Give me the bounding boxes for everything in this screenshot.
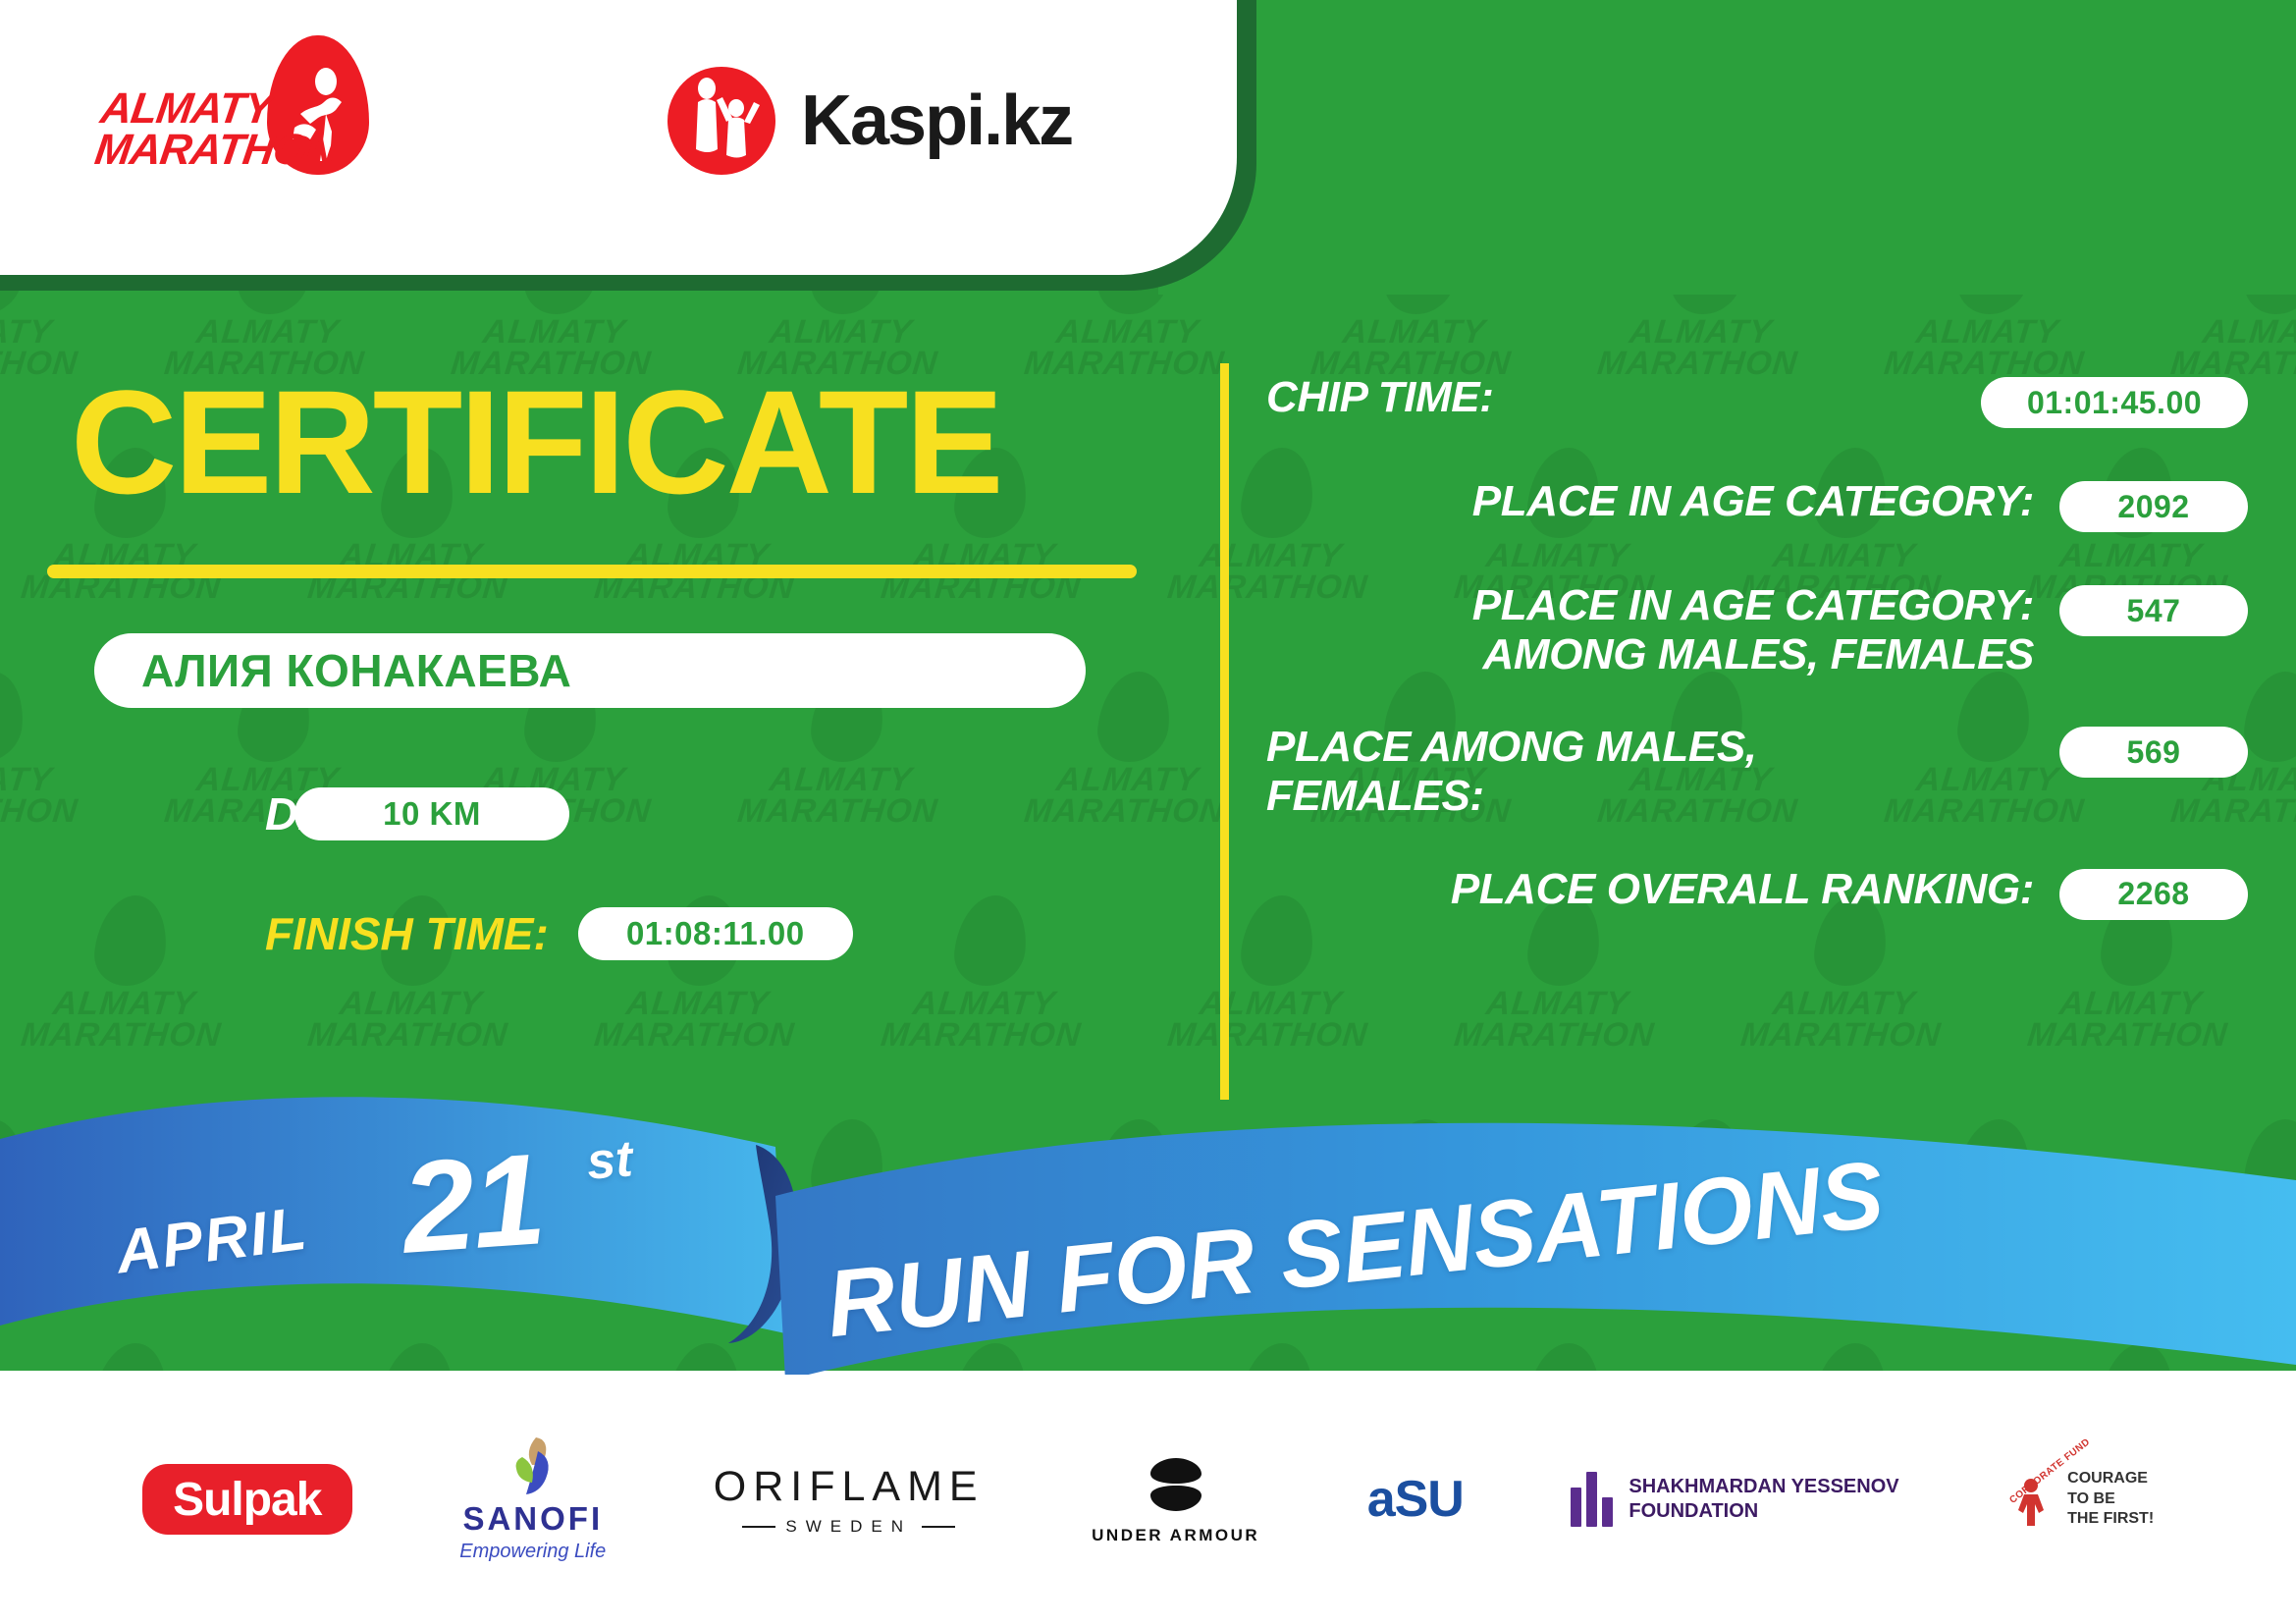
finish-time-row: FINISH TIME: 01:08:11.00 xyxy=(265,903,853,964)
sponsor-logo-oriflame: ORIFLAME SWEDEN xyxy=(714,1463,985,1537)
yessenov-wordmark: SHAKHMARDAN YESSENOV FOUNDATION xyxy=(1629,1475,1898,1524)
sanofi-wordmark: SANOFI xyxy=(459,1500,606,1538)
stat-row: PLACE IN AGE CATEGORY: AMONG MALES, FEMA… xyxy=(1266,581,2248,679)
sulpak-wordmark: Sulpak xyxy=(173,1473,321,1527)
distance-value: 10 KM xyxy=(294,787,569,840)
oriflame-wordmark: ORIFLAME xyxy=(714,1463,985,1511)
ribbon-day: 21 xyxy=(398,1124,548,1282)
sponsor-logo-sanofi: SANOFI Empowering Life xyxy=(459,1435,606,1563)
yessenov-bars-icon xyxy=(1571,1472,1613,1527)
kaspi-wordmark: Kaspi.kz xyxy=(801,81,1072,161)
finish-time-label: FINISH TIME: xyxy=(265,907,549,960)
oriflame-tagline: SWEDEN xyxy=(714,1517,985,1537)
under-armour-wordmark: UNDER ARMOUR xyxy=(1092,1526,1259,1545)
stat-value: 01:01:45.00 xyxy=(1981,377,2248,428)
certificate-canvas: ALMATY MARATHONALMATY MARATHONALMATY MAR… xyxy=(0,0,2296,1624)
watermark-tile: ALMATY MARATHON xyxy=(2285,448,2296,604)
stat-value: 569 xyxy=(2059,727,2248,778)
stat-row: PLACE OVERALL RANKING:2268 xyxy=(1266,865,2248,926)
stat-label: PLACE AMONG MALES, FEMALES: xyxy=(1266,723,2059,821)
finish-time-value: 01:08:11.00 xyxy=(578,907,853,960)
participant-name-field: АЛИЯ КОНАКАЕВА xyxy=(94,633,1086,708)
stat-label: PLACE IN AGE CATEGORY: xyxy=(1266,477,2059,526)
stat-label: CHIP TIME: xyxy=(1266,373,1981,422)
almaty-marathon-logo: ALMATY MARATHON xyxy=(98,41,393,179)
watermark-tile: ALMATY MARATHON xyxy=(2285,895,2296,1052)
vertical-divider xyxy=(1220,363,1229,1100)
title-underline xyxy=(47,565,1137,578)
under-armour-icon xyxy=(1129,1454,1223,1515)
distance-row: DISTANCE: 10 KM xyxy=(265,784,569,844)
stat-row: PLACE IN AGE CATEGORY:2092 xyxy=(1266,477,2248,538)
stat-row: PLACE AMONG MALES, FEMALES:569 xyxy=(1266,723,2248,821)
ribbon-day-suffix: st xyxy=(585,1129,634,1191)
stat-label: PLACE OVERALL RANKING: xyxy=(1266,865,2059,914)
courage-wordmark: COURAGE TO BE THE FIRST! xyxy=(2067,1469,2154,1530)
sponsor-logo-sulpak: Sulpak xyxy=(142,1464,352,1535)
participant-name-value: АЛИЯ КОНАКАЕВА xyxy=(141,644,571,697)
almaty-marathon-wordmark: ALMATY MARATHON xyxy=(92,88,345,171)
stat-value: 547 xyxy=(2059,585,2248,636)
stats-column: CHIP TIME:01:01:45.00PLACE IN AGE CATEGO… xyxy=(1266,373,2248,969)
courage-figure-icon: CORPORATE FUND xyxy=(2006,1470,2056,1529)
kaspi-figures-icon xyxy=(667,67,775,175)
sponsor-logo-asu: aSU xyxy=(1367,1470,1464,1529)
stat-value: 2268 xyxy=(2059,869,2248,920)
sanofi-tagline: Empowering Life xyxy=(459,1541,606,1563)
asu-wordmark: aSU xyxy=(1367,1470,1464,1529)
header-logo-row: ALMATY MARATHON Kaspi.kz xyxy=(0,0,1237,275)
event-ribbon: APRIL 21 st RUN FOR SENSATIONS xyxy=(0,1090,2296,1375)
stat-label: PLACE IN AGE CATEGORY: AMONG MALES, FEMA… xyxy=(1266,581,2059,679)
stat-value: 2092 xyxy=(2059,481,2248,532)
sponsor-logo-yessenov-foundation: SHAKHMARDAN YESSENOV FOUNDATION xyxy=(1571,1472,1898,1527)
kaspi-logo: Kaspi.kz xyxy=(667,67,1072,175)
top-right-green-fill xyxy=(1158,0,2296,295)
page-title: CERTIFICATE xyxy=(71,368,1001,515)
left-content-column: CERTIFICATE АЛИЯ КОНАКАЕВА DISTANCE: 10 … xyxy=(0,324,1207,1090)
stat-row: CHIP TIME:01:01:45.00 xyxy=(1266,373,2248,434)
sponsor-logo-courage-fund: CORPORATE FUND COURAGE TO BE THE FIRST! xyxy=(2006,1469,2154,1530)
sponsor-bar: Sulpak SANOFI Empowering Life ORIFLAME S… xyxy=(0,1375,2296,1624)
sanofi-mark-icon xyxy=(505,1435,561,1496)
sponsor-logo-under-armour: UNDER ARMOUR xyxy=(1092,1454,1259,1545)
